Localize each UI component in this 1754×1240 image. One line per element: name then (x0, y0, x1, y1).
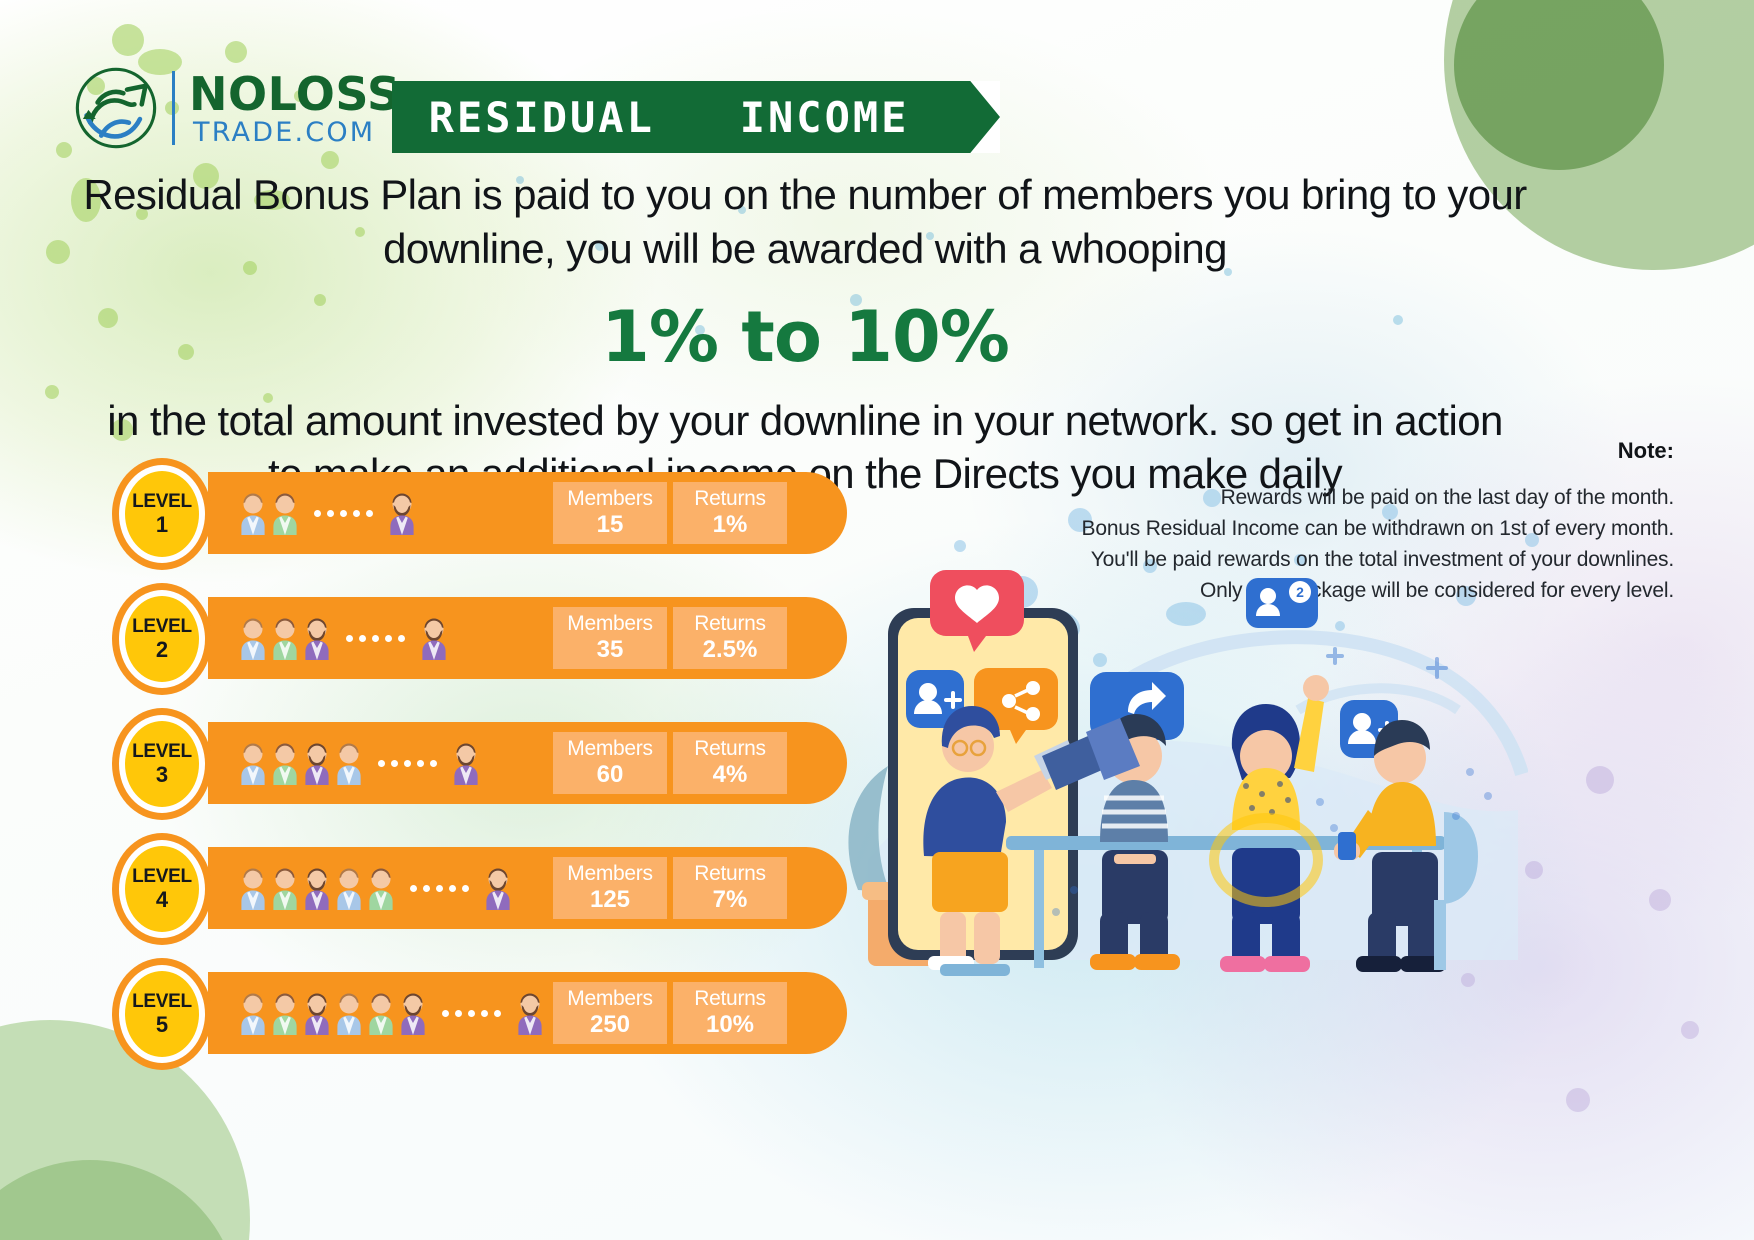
logo-divider (172, 71, 175, 145)
svg-text:2: 2 (1296, 584, 1304, 600)
level-badge-inner: LEVEL1 (119, 465, 205, 563)
level-number: 3 (156, 763, 168, 786)
person-icon (302, 741, 332, 785)
returns-label: Returns (694, 738, 765, 761)
page-header: NOLOSS TRADE.COM RESIDUAL INCOME (0, 0, 1754, 170)
members-value: 250 (590, 1012, 630, 1038)
person-icon (334, 991, 364, 1035)
level-row: LEVEL5Members250Returns10% (112, 958, 872, 1083)
person-icon (366, 866, 396, 910)
add-user-2-icon-badge: 2 (1246, 578, 1318, 628)
returns-stat: Returns10% (673, 982, 787, 1044)
returns-value: 2.5% (703, 637, 758, 663)
members-value: 60 (597, 762, 624, 788)
person-icon (270, 491, 300, 535)
members-label: Members (567, 488, 652, 511)
members-label: Members (567, 738, 652, 761)
ellipsis-dots (410, 885, 469, 892)
infographic-canvas: NOLOSS TRADE.COM RESIDUAL INCOME Residua… (0, 0, 1754, 1240)
person-icon (270, 866, 300, 910)
members-stat: Members15 (553, 482, 667, 544)
members-stat: Members60 (553, 732, 667, 794)
members-value: 35 (597, 637, 624, 663)
level-badge[interactable]: LEVEL1 (112, 458, 212, 570)
members-value: 125 (590, 887, 630, 913)
returns-value: 10% (706, 1012, 754, 1038)
level-row: LEVEL4Members125Returns7% (112, 833, 872, 958)
returns-label: Returns (694, 988, 765, 1011)
ellipsis-dots (442, 1010, 501, 1017)
person-icon (515, 991, 545, 1035)
person-icon (270, 991, 300, 1035)
level-word: LEVEL (132, 992, 192, 1012)
returns-label: Returns (694, 488, 765, 511)
social-media-team-illustration: 2 (828, 560, 1528, 1030)
level-row: LEVEL2Members35Returns2.5% (112, 583, 872, 708)
person-icon (451, 741, 481, 785)
person-icon (334, 741, 364, 785)
person-icon (302, 991, 332, 1035)
level-number: 2 (156, 638, 168, 661)
level-list: LEVEL1Members15Returns1%LEVEL2Members35R… (112, 458, 872, 1083)
level-row: LEVEL1Members15Returns1% (112, 458, 872, 583)
person-icon (302, 616, 332, 660)
level-badge-inner: LEVEL4 (119, 840, 205, 938)
person-icon (366, 991, 396, 1035)
person-icon (238, 991, 268, 1035)
returns-label: Returns (694, 863, 765, 886)
note-title: Note: (1034, 438, 1674, 464)
ellipsis-dots (378, 760, 437, 767)
people-group (238, 734, 481, 792)
person-icon (483, 866, 513, 910)
intro-line-1: Residual Bonus Plan is paid to you on th… (0, 168, 1610, 222)
level-badge-core: LEVEL2 (125, 596, 199, 682)
page-title: RESIDUAL INCOME (392, 81, 946, 153)
people-group (238, 609, 449, 667)
level-number: 1 (156, 513, 168, 536)
people-group (238, 484, 417, 542)
members-value: 15 (597, 512, 624, 538)
person-icon (270, 741, 300, 785)
members-label: Members (567, 863, 652, 886)
person-icon (238, 491, 268, 535)
brand-domain: TRADE.COM (189, 119, 401, 146)
person-icon (419, 616, 449, 660)
level-word: LEVEL (132, 492, 192, 512)
person-icon (387, 491, 417, 535)
returns-value: 1% (713, 512, 748, 538)
people-group (238, 984, 545, 1042)
level-row: LEVEL3Members60Returns4% (112, 708, 872, 833)
members-stat: Members250 (553, 982, 667, 1044)
level-badge-core: LEVEL3 (125, 721, 199, 807)
members-stat: Members125 (553, 857, 667, 919)
person-icon (270, 616, 300, 660)
title-ribbon: RESIDUAL INCOME (392, 81, 1000, 153)
members-label: Members (567, 988, 652, 1011)
level-word: LEVEL (132, 742, 192, 762)
percentage-headline: 1% to 10% (0, 296, 1610, 378)
returns-stat: Returns7% (673, 857, 787, 919)
level-badge-inner: LEVEL3 (119, 715, 205, 813)
level-badge-core: LEVEL5 (125, 971, 199, 1057)
brand-name: NOLOSS (189, 71, 401, 117)
intro-line-2: downline, you will be awarded with a who… (0, 222, 1610, 276)
level-number: 4 (156, 888, 168, 911)
level-badge-core: LEVEL1 (125, 471, 199, 557)
returns-value: 4% (713, 762, 748, 788)
level-badge[interactable]: LEVEL3 (112, 708, 212, 820)
level-word: LEVEL (132, 867, 192, 887)
people-group (238, 859, 513, 917)
level-badge-inner: LEVEL5 (119, 965, 205, 1063)
ribbon-notch (946, 81, 1000, 153)
ellipsis-dots (346, 635, 405, 642)
person-icon (398, 991, 428, 1035)
level-badge-inner: LEVEL2 (119, 590, 205, 688)
returns-label: Returns (694, 613, 765, 636)
person-icon (238, 741, 268, 785)
person-icon (334, 866, 364, 910)
level-badge[interactable]: LEVEL2 (112, 583, 212, 695)
person-icon (238, 866, 268, 910)
level-badge-core: LEVEL4 (125, 846, 199, 932)
returns-stat: Returns1% (673, 482, 787, 544)
brand-logo[interactable]: NOLOSS TRADE.COM (70, 62, 401, 154)
level-number: 5 (156, 1013, 168, 1036)
person-icon (238, 616, 268, 660)
ellipsis-dots (314, 510, 373, 517)
returns-value: 7% (713, 887, 748, 913)
bull-circle-icon (70, 62, 162, 154)
level-badge[interactable]: LEVEL4 (112, 833, 212, 945)
returns-stat: Returns2.5% (673, 607, 787, 669)
level-badge[interactable]: LEVEL5 (112, 958, 212, 1070)
members-stat: Members35 (553, 607, 667, 669)
level-word: LEVEL (132, 617, 192, 637)
person-icon (302, 866, 332, 910)
returns-stat: Returns4% (673, 732, 787, 794)
note-line: Bonus Residual Income can be withdrawn o… (1034, 513, 1674, 544)
note-line: Rewards will be paid on the last day of … (1034, 482, 1674, 513)
members-label: Members (567, 613, 652, 636)
